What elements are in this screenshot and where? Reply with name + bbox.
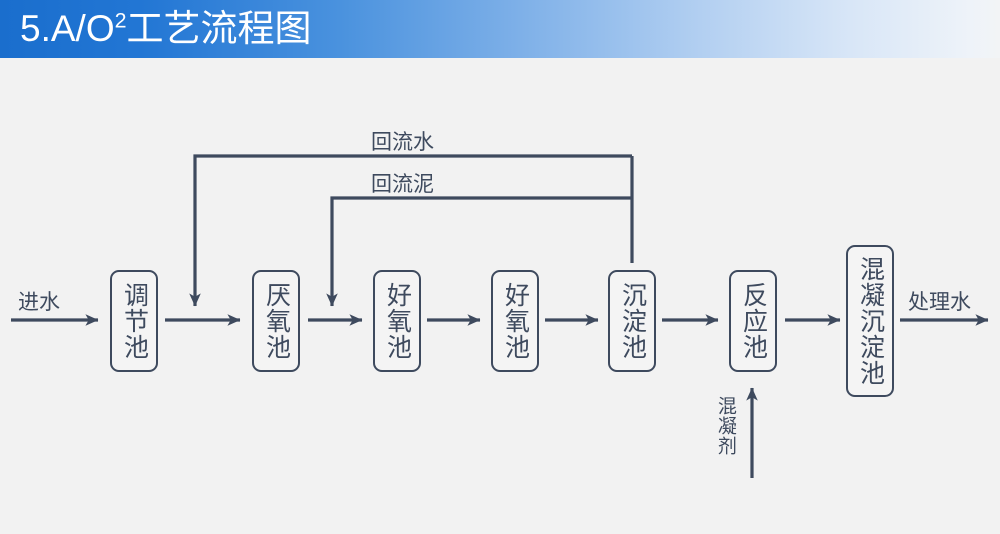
tank-haoyang-1[interactable]: 好氧池 <box>373 270 421 372</box>
tank-hunning-chendian-label: 混凝沉淀池 <box>857 256 884 386</box>
label-effluent: 处理水 <box>908 286 971 316</box>
tank-fanying-label: 反应池 <box>740 282 767 360</box>
page-title: 5.A/O2工艺流程图 <box>20 2 312 56</box>
tank-tiaojie[interactable]: 调节池 <box>110 270 158 372</box>
tank-chendian-label: 沉淀池 <box>619 282 646 360</box>
tank-haoyang-1-label: 好氧池 <box>384 282 411 360</box>
label-recycle-water: 回流水 <box>371 126 434 156</box>
tank-tiaojie-label: 调节池 <box>121 282 148 360</box>
process-flow-diagram: 进水 处理水 回流水 回流泥 混凝剂 调节池 厌氧池 好氧池 好氧池 沉淀池 反… <box>0 58 1000 534</box>
tank-yanyang[interactable]: 厌氧池 <box>252 270 300 372</box>
label-recycle-sludge: 回流泥 <box>371 168 434 198</box>
tank-haoyang-2[interactable]: 好氧池 <box>491 270 539 372</box>
tank-yanyang-label: 厌氧池 <box>263 282 290 360</box>
page-title-main: 5.A/O <box>20 8 115 49</box>
label-influent: 进水 <box>18 286 60 316</box>
tank-chendian[interactable]: 沉淀池 <box>608 270 656 372</box>
page-title-tail: 工艺流程图 <box>127 8 312 49</box>
tank-hunning-chendian[interactable]: 混凝沉淀池 <box>846 245 894 397</box>
diagram-page: 5.A/O2工艺流程图 <box>0 0 1000 534</box>
page-title-superscript: 2 <box>115 9 127 33</box>
tank-fanying[interactable]: 反应池 <box>729 270 777 372</box>
tank-haoyang-2-label: 好氧池 <box>502 282 529 360</box>
label-coagulant: 混凝剂 <box>714 396 735 456</box>
header-bar: 5.A/O2工艺流程图 <box>0 0 1000 58</box>
